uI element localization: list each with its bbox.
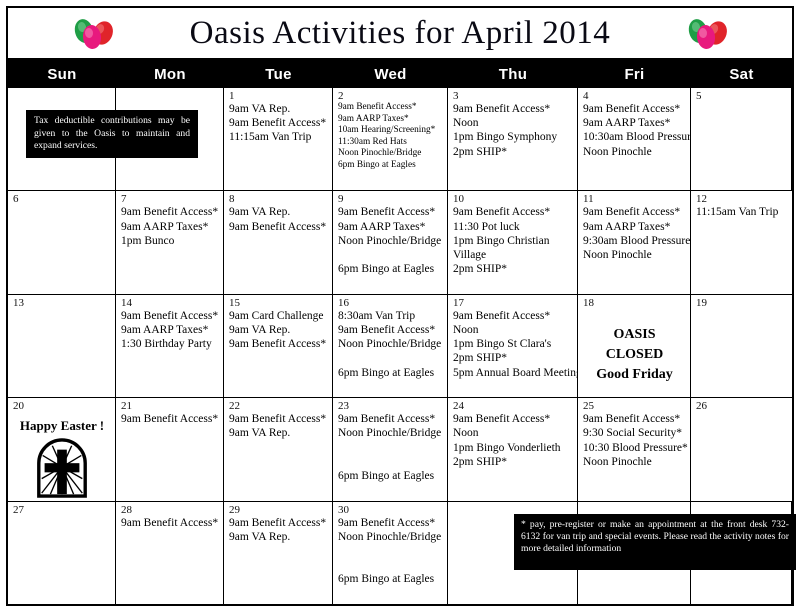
event-item: Noon — [453, 323, 573, 337]
day-number: 29 — [229, 504, 328, 516]
event-item: 9am AARP Taxes* — [338, 220, 443, 234]
day-number: 12 — [696, 193, 788, 205]
day-number: 21 — [121, 400, 219, 412]
day-number: 1 — [229, 90, 328, 102]
event-item: 1pm Bunco — [121, 234, 219, 248]
event-item: 9am AARP Taxes* — [121, 220, 219, 234]
day-number: 18 — [583, 297, 686, 309]
closed-notice: OASIS CLOSEDGood Friday — [583, 325, 686, 385]
event-item: 9am Benefit Access* — [121, 205, 219, 219]
calendar-week-row: 19am VA Rep.9am Benefit Access*11:15am V… — [8, 88, 792, 191]
event-spacer — [338, 558, 443, 572]
day-number: 26 — [696, 400, 788, 412]
day-number: 3 — [453, 90, 573, 102]
event-item: 10:30am Blood Pressure — [583, 130, 686, 144]
event-item: Noon — [453, 426, 573, 440]
event-item: 9am VA Rep. — [229, 205, 328, 219]
weekday-header-tue: Tue — [224, 60, 333, 88]
event-item: Noon — [453, 116, 573, 130]
cross-window-icon — [13, 438, 111, 498]
event-item: 11:30am Red Hats — [338, 137, 443, 149]
day-number: 5 — [696, 90, 787, 102]
event-item: 9am Benefit Access* — [338, 102, 443, 114]
weekday-header-sun: Sun — [8, 60, 116, 88]
event-item: 9am Benefit Access* — [121, 412, 219, 426]
day-cell-6[interactable]: 6 — [8, 191, 116, 293]
event-item: Noon Pinochle/Bridge — [338, 234, 443, 248]
event-item: Noon Pinochle/Bridge — [338, 337, 443, 351]
day-number: 2 — [338, 90, 443, 102]
calendar-week-row: 20Happy Easter !219am Benefit Access*229… — [8, 398, 792, 501]
event-item: 9am Benefit Access* — [453, 309, 573, 323]
event-item: Noon Pinochle/Bridge — [338, 426, 443, 440]
day-cell-29[interactable]: 299am Benefit Access*9am VA Rep. — [224, 502, 333, 604]
event-item: 9am AARP Taxes* — [583, 116, 686, 130]
event-item: 9am Benefit Access* — [583, 205, 686, 219]
day-number: 28 — [121, 504, 219, 516]
event-item: 2pm SHIP* — [453, 351, 573, 365]
day-number: 30 — [338, 504, 443, 516]
event-item: 1pm Bingo Symphony — [453, 130, 573, 144]
calendar-week-row: 27289am Benefit Access*299am Benefit Acc… — [8, 502, 792, 604]
event-spacer — [338, 544, 443, 558]
event-spacer — [338, 441, 443, 455]
event-item: 9:30am Blood Pressure — [583, 234, 686, 248]
day-number: 7 — [121, 193, 219, 205]
event-item: 9am Benefit Access* — [453, 205, 573, 219]
event-item: Noon Pinochle/Bridge — [338, 530, 443, 544]
calendar-week-row: 13149am Benefit Access*9am AARP Taxes*1:… — [8, 295, 792, 398]
weekday-header-mon: Mon — [116, 60, 224, 88]
event-item: 2pm SHIP* — [453, 455, 573, 469]
event-item: 9am Card Challenge — [229, 309, 328, 323]
day-number: 25 — [583, 400, 686, 412]
event-item: 9am AARP Taxes* — [583, 220, 686, 234]
event-item: 10am Hearing/Screening* — [338, 125, 443, 137]
event-item: 1pm Bingo Vonderlieth — [453, 441, 573, 455]
event-item: 2pm SHIP* — [453, 262, 573, 276]
event-item: 5pm Annual Board Meeting — [453, 366, 573, 380]
day-number: 22 — [229, 400, 328, 412]
day-cell-27[interactable]: 27 — [8, 502, 116, 604]
day-cell-8[interactable]: 89am VA Rep.9am Benefit Access* — [224, 191, 333, 293]
day-cell-21[interactable]: 219am Benefit Access* — [116, 398, 224, 500]
day-cell-26[interactable]: 26 — [691, 398, 792, 500]
day-number: 24 — [453, 400, 573, 412]
day-number: 17 — [453, 297, 573, 309]
day-cell-14[interactable]: 149am Benefit Access*9am AARP Taxes*1:30… — [116, 295, 224, 397]
event-item: 11:15am Van Trip — [696, 205, 788, 219]
event-spacer — [338, 455, 443, 469]
event-item: 9am VA Rep. — [229, 426, 328, 440]
event-item: 1:30 Birthday Party — [121, 337, 219, 351]
day-cell-3[interactable]: 39am Benefit Access*Noon1pm Bingo Sympho… — [448, 88, 578, 190]
event-item: 9am Benefit Access* — [453, 412, 573, 426]
event-item: Village — [453, 248, 573, 262]
day-cell-28[interactable]: 289am Benefit Access* — [116, 502, 224, 604]
weekday-header-wed: Wed — [333, 60, 448, 88]
day-cell-4[interactable]: 49am Benefit Access*9am AARP Taxes*10:30… — [578, 88, 691, 190]
day-cell-1[interactable]: 19am VA Rep.9am Benefit Access*11:15am V… — [224, 88, 333, 190]
event-item: 9am AARP Taxes* — [121, 323, 219, 337]
day-number: 14 — [121, 297, 219, 309]
event-item: 9am Benefit Access* — [338, 412, 443, 426]
event-item: 9am VA Rep. — [229, 530, 328, 544]
day-number: 27 — [13, 504, 111, 516]
event-item: 9am VA Rep. — [229, 102, 328, 116]
tax-deductible-note: Tax deductible contributions may be give… — [26, 110, 198, 158]
event-item: 1pm Bingo Christian — [453, 234, 573, 248]
easter-eggs-icon-right — [684, 16, 730, 50]
day-number: 4 — [583, 90, 686, 102]
event-item: Noon Pinochle — [583, 145, 686, 159]
event-item: 6pm Bingo at Eagles — [338, 469, 443, 483]
easter-greeting: Happy Easter ! — [13, 418, 111, 434]
event-item: 9am Benefit Access* — [229, 116, 328, 130]
day-number: 13 — [13, 297, 111, 309]
day-cell-11[interactable]: 119am Benefit Access*9am AARP Taxes*9:30… — [578, 191, 691, 293]
calendar-page: Oasis Activities for April 2014 Sun Mon … — [0, 0, 800, 612]
day-cell-13[interactable]: 13 — [8, 295, 116, 397]
day-cell-17[interactable]: 179am Benefit Access*Noon1pm Bingo St Cl… — [448, 295, 578, 397]
day-cell-23[interactable]: 239am Benefit Access*Noon Pinochle/Bridg… — [333, 398, 448, 500]
weekday-header-fri: Fri — [578, 60, 691, 88]
day-cell-10[interactable]: 109am Benefit Access*11:30 Pot luck1pm B… — [448, 191, 578, 293]
event-item: 9am Benefit Access* — [338, 205, 443, 219]
day-cell-7[interactable]: 79am Benefit Access*9am AARP Taxes*1pm B… — [116, 191, 224, 293]
calendar-grid: 19am VA Rep.9am Benefit Access*11:15am V… — [8, 88, 792, 604]
event-item: Noon Pinochle — [583, 455, 686, 469]
calendar-week-row: 679am Benefit Access*9am AARP Taxes*1pm … — [8, 191, 792, 294]
day-cell-22[interactable]: 229am Benefit Access*9am VA Rep. — [224, 398, 333, 500]
day-number: 19 — [696, 297, 788, 309]
day-number: 6 — [13, 193, 111, 205]
day-number: 23 — [338, 400, 443, 412]
event-item: 11:30 Pot luck — [453, 220, 573, 234]
event-item: 2pm SHIP* — [453, 145, 573, 159]
event-item: 9am Benefit Access* — [121, 309, 219, 323]
event-item: 9am VA Rep. — [229, 323, 328, 337]
event-item: Noon Pinochle/Bridge — [338, 148, 443, 160]
day-cell-24[interactable]: 249am Benefit Access*Noon1pm Bingo Vonde… — [448, 398, 578, 500]
day-cell-20[interactable]: 20Happy Easter ! — [8, 398, 116, 500]
day-number: 16 — [338, 297, 443, 309]
day-number: 9 — [338, 193, 443, 205]
page-title: Oasis Activities for April 2014 — [190, 15, 611, 52]
day-number: 11 — [583, 193, 686, 205]
event-item: 9am Benefit Access* — [229, 516, 328, 530]
day-cell-30[interactable]: 309am Benefit Access*Noon Pinochle/Bridg… — [333, 502, 448, 604]
closed-line-1: OASIS CLOSED — [583, 325, 686, 365]
event-item: 9am Benefit Access* — [229, 412, 328, 426]
closed-line-2: Good Friday — [583, 365, 686, 385]
day-cell-19[interactable]: 19 — [691, 295, 792, 397]
day-number: 20 — [13, 400, 111, 412]
day-number: 10 — [453, 193, 573, 205]
day-cell-16[interactable]: 168:30am Van Trip9am Benefit Access*Noon… — [333, 295, 448, 397]
event-item: Noon Pinochle — [583, 248, 686, 262]
event-item: 9am Benefit Access* — [583, 412, 686, 426]
event-item: 9am Benefit Access* — [338, 516, 443, 530]
event-item: 10:30 Blood Pressure* — [583, 441, 686, 455]
day-cell-15[interactable]: 159am Card Challenge9am VA Rep.9am Benef… — [224, 295, 333, 397]
weekday-header-thu: Thu — [448, 60, 578, 88]
day-cell-2[interactable]: 29am Benefit Access*9am AARP Taxes*10am … — [333, 88, 448, 190]
weekday-header-row: Sun Mon Tue Wed Thu Fri Sat — [8, 60, 792, 88]
event-item: 9:30 Social Security* — [583, 426, 686, 440]
event-item: 1pm Bingo St Clara's — [453, 337, 573, 351]
event-spacer — [338, 248, 443, 262]
day-cell-18[interactable]: 18OASIS CLOSEDGood Friday — [578, 295, 691, 397]
event-item: 6pm Bingo at Eagles — [338, 160, 443, 172]
event-item: 9am Benefit Access* — [453, 102, 573, 116]
calendar-frame: Oasis Activities for April 2014 Sun Mon … — [6, 6, 794, 606]
event-item: 9am Benefit Access* — [121, 516, 219, 530]
event-item: 11:15am Van Trip — [229, 130, 328, 144]
event-item: 6pm Bingo at Eagles — [338, 572, 443, 586]
day-cell-12[interactable]: 1211:15am Van Trip — [691, 191, 792, 293]
day-cell-9[interactable]: 99am Benefit Access*9am AARP Taxes*Noon … — [333, 191, 448, 293]
event-item: 9am Benefit Access* — [229, 220, 328, 234]
event-item: 8:30am Van Trip — [338, 309, 443, 323]
day-number: 15 — [229, 297, 328, 309]
title-banner: Oasis Activities for April 2014 — [8, 8, 792, 60]
day-number: 8 — [229, 193, 328, 205]
footer-disclaimer-note: * pay, pre-register or make an appointme… — [514, 514, 796, 570]
event-spacer — [338, 351, 443, 365]
weekday-header-sat: Sat — [691, 60, 792, 88]
event-item: 6pm Bingo at Eagles — [338, 262, 443, 276]
day-cell-25[interactable]: 259am Benefit Access*9:30 Social Securit… — [578, 398, 691, 500]
event-item: 9am Benefit Access* — [229, 337, 328, 351]
event-item: 9am Benefit Access* — [338, 323, 443, 337]
day-cell-5[interactable]: 5 — [691, 88, 792, 190]
event-item: 6pm Bingo at Eagles — [338, 366, 443, 380]
event-item: 9am Benefit Access* — [583, 102, 686, 116]
easter-eggs-icon-left — [70, 16, 116, 50]
event-item: 9am AARP Taxes* — [338, 114, 443, 126]
